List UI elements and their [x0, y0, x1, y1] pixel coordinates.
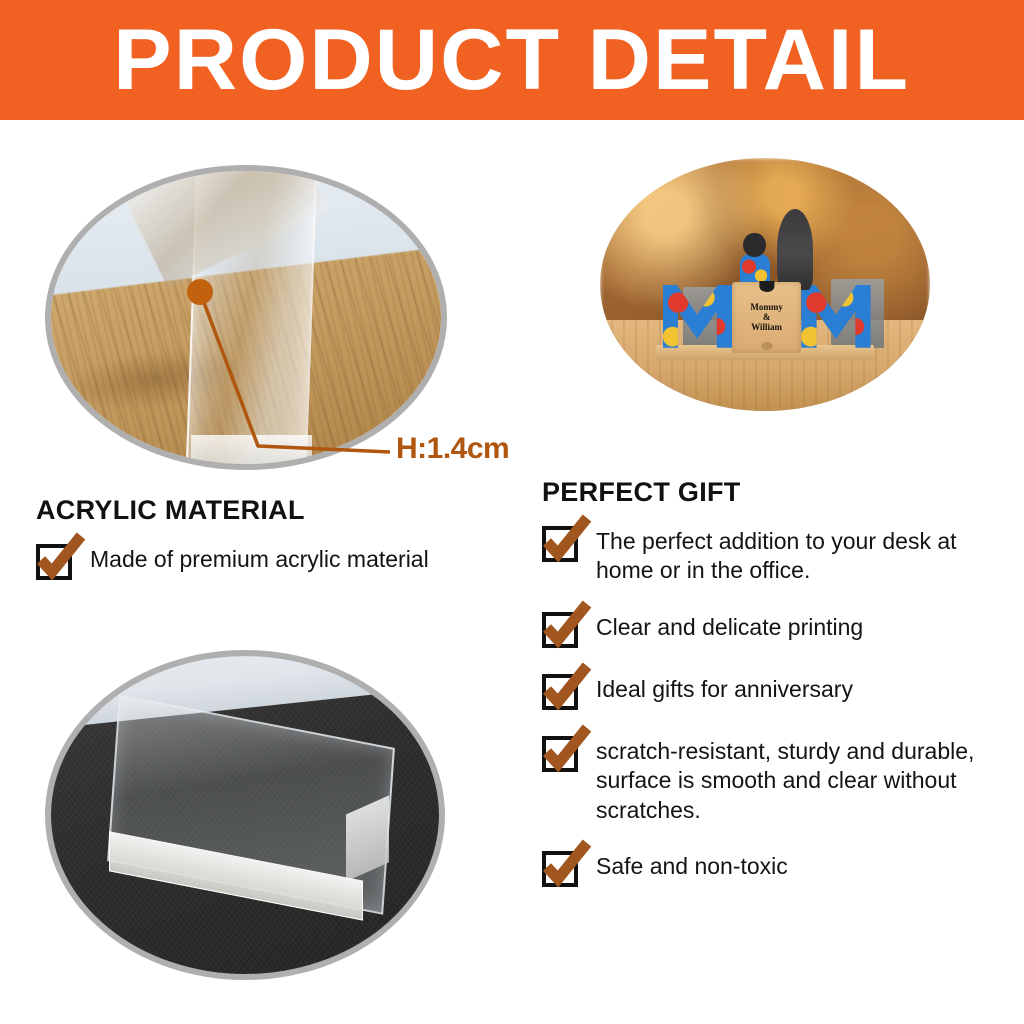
- feature-list-acrylic-material: Made of premium acrylic material: [36, 542, 516, 580]
- mother-and-child-figure: [739, 209, 818, 290]
- engraved-name-line-1: Mommy: [750, 302, 783, 312]
- photo-acrylic-edge-content: [51, 171, 441, 464]
- feature-list-perfect-gift: The perfect addition to your desk at hom…: [542, 524, 1004, 887]
- checkbox-checked-icon: [542, 612, 578, 648]
- feature-text: scratch-resistant, sturdy and durable, s…: [596, 734, 1004, 825]
- section-perfect-gift: PERFECT GIFT The perfect addition to you…: [542, 477, 1004, 911]
- checkbox-checked-icon: [542, 851, 578, 887]
- feature-text: Made of premium acrylic material: [90, 542, 429, 574]
- product-detail-infographic: PRODUCT DETAIL M: [0, 0, 1024, 1024]
- photo-mom-figurine: Mommy & William: [600, 158, 930, 411]
- section-acrylic-material: ACRYLIC MATERIAL Made of premium acrylic…: [36, 495, 516, 580]
- engraved-puzzle-piece: Mommy & William: [732, 282, 801, 353]
- list-item: scratch-resistant, sturdy and durable, s…: [542, 734, 1004, 825]
- engraved-name-line-3: William: [751, 322, 782, 332]
- mother-hair: [777, 209, 813, 290]
- checkbox-checked-icon: [542, 674, 578, 710]
- checkbox-checked-icon: [36, 544, 72, 580]
- section-title-acrylic-material: ACRYLIC MATERIAL: [36, 495, 516, 526]
- feature-text: Safe and non-toxic: [596, 849, 788, 881]
- photo-acrylic-block: [45, 650, 445, 980]
- list-item: Clear and delicate printing: [542, 610, 1004, 648]
- header-banner: PRODUCT DETAIL: [0, 0, 1024, 120]
- list-item: Ideal gifts for anniversary: [542, 672, 1004, 710]
- feature-text: Ideal gifts for anniversary: [596, 672, 853, 704]
- list-item: Made of premium acrylic material: [36, 542, 516, 580]
- photo-mom-content: Mommy & William: [600, 158, 930, 411]
- callout-label-height: H:1.4cm: [396, 432, 509, 466]
- checkbox-checked-icon: [542, 736, 578, 772]
- section-title-perfect-gift: PERFECT GIFT: [542, 477, 1004, 508]
- checkbox-checked-icon: [542, 526, 578, 562]
- engraved-name-line-2: &: [763, 312, 771, 322]
- acrylic-block-base: [191, 435, 312, 467]
- feature-text: Clear and delicate printing: [596, 610, 863, 642]
- photo-acrylic-edge: [45, 165, 447, 470]
- list-item: Safe and non-toxic: [542, 849, 1004, 887]
- page-title: PRODUCT DETAIL: [114, 17, 911, 103]
- child-head: [743, 233, 765, 257]
- list-item: The perfect addition to your desk at hom…: [542, 524, 1004, 586]
- photo-acrylic-block-content: [51, 656, 439, 974]
- feature-text: The perfect addition to your desk at hom…: [596, 524, 1004, 586]
